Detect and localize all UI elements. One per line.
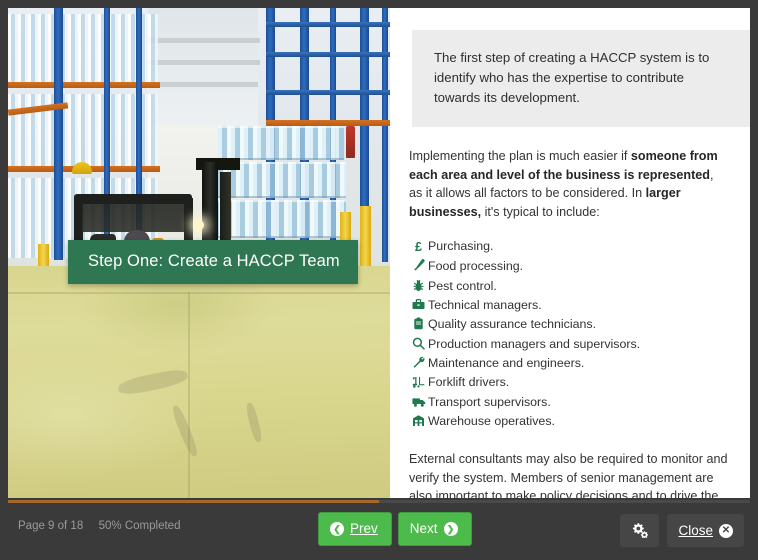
ceiling-beam <box>154 82 258 87</box>
list-item: Maintenance and engineers. <box>409 356 740 372</box>
list-item-label: Quality assurance technicians. <box>428 317 596 333</box>
ceiling-beam <box>148 60 260 65</box>
post-protector <box>360 206 371 270</box>
close-button-label: Close <box>678 523 713 538</box>
list-item: Quality assurance technicians. <box>409 317 740 333</box>
list-item-label: Warehouse operatives. <box>428 414 555 430</box>
forklift-icon <box>409 375 428 388</box>
floor-seam <box>188 292 190 498</box>
floor-seam <box>8 292 390 294</box>
pound-sign-icon: £ <box>409 239 428 255</box>
progress-fill <box>8 500 379 503</box>
next-button[interactable]: Next ❯ <box>398 512 472 546</box>
list-item: Production managers and supervisors. <box>409 337 740 353</box>
floor-scuff <box>170 404 200 458</box>
prev-button[interactable]: ❮ Prev <box>318 512 392 546</box>
thermometer-icon <box>409 259 428 272</box>
truck-icon <box>409 395 428 408</box>
rack-upright <box>382 8 388 262</box>
list-item: Warehouse operatives. <box>409 414 740 430</box>
briefcase-icon <box>409 298 428 311</box>
list-item: Technical managers. <box>409 298 740 314</box>
status-text: Page 9 of 18 50% Completed <box>18 520 180 532</box>
slide-caption-banner: Step One: Create a HACCP Team <box>68 240 358 284</box>
hard-hat <box>72 162 92 174</box>
overhead-guard-top <box>74 194 192 204</box>
player-footer: Page 9 of 18 50% Completed ❮ Prev Next ❯ <box>0 504 758 560</box>
body-text: Implementing the plan is much easier if <box>409 149 631 163</box>
rack-beam <box>266 52 390 57</box>
slide-stage: Step One: Create a HACCP Team The first … <box>8 8 750 498</box>
floor-scuff <box>117 367 189 397</box>
ceiling-beam <box>148 38 260 43</box>
roles-list: £Purchasing.Food processing.Pest control… <box>404 239 740 430</box>
callout-box: The first step of creating a HACCP syste… <box>412 30 750 127</box>
chevron-left-circle-icon: ❮ <box>330 522 344 536</box>
close-circle-icon: ✕ <box>719 524 733 538</box>
list-item-label: Food processing. <box>428 259 523 275</box>
list-item-label: Purchasing. <box>428 239 493 255</box>
bug-icon <box>409 279 428 292</box>
list-item: Pest control. <box>409 279 740 295</box>
completed-label: 50% Completed <box>99 520 181 532</box>
course-player: Step One: Create a HACCP Team The first … <box>0 0 758 560</box>
magnifier-icon <box>409 337 428 350</box>
wrench-icon <box>409 356 428 369</box>
list-item-label: Technical managers. <box>428 298 542 314</box>
overhead-guard-roof <box>82 202 184 232</box>
list-item-label: Pest control. <box>428 279 497 295</box>
list-item-label: Transport supervisors. <box>428 395 551 411</box>
warehouse-forklift-photo: Step One: Create a HACCP Team <box>8 8 390 498</box>
fire-extinguisher <box>346 126 355 158</box>
ceiling <box>148 8 258 136</box>
warehouse-floor <box>8 266 390 498</box>
right-controls: Close ✕ <box>620 514 744 547</box>
intro-paragraph: Implementing the plan is much easier if … <box>404 147 740 221</box>
clipboard-icon <box>409 317 428 330</box>
work-light <box>194 220 204 230</box>
list-item-label: Production managers and supervisors. <box>428 337 640 353</box>
prev-button-label: Prev <box>350 521 378 536</box>
settings-button[interactable] <box>620 514 659 547</box>
rack-beam <box>266 22 390 27</box>
body-text: it's typical to include: <box>481 205 600 219</box>
close-button[interactable]: Close ✕ <box>667 514 744 547</box>
list-item: £Purchasing. <box>409 239 740 255</box>
page-label: Page 9 of 18 <box>18 520 83 532</box>
rack-beam <box>266 90 390 95</box>
list-item-label: Forklift drivers. <box>428 375 509 391</box>
navigation-buttons: ❮ Prev Next ❯ <box>318 512 472 546</box>
chevron-right-circle-icon: ❯ <box>444 522 458 536</box>
list-item: Forklift drivers. <box>409 375 740 391</box>
list-item: Food processing. <box>409 259 740 275</box>
slide-text-pane: The first step of creating a HACCP syste… <box>390 8 750 498</box>
warehouse-icon <box>409 414 428 427</box>
outro-paragraph: External consultants may also be require… <box>404 450 740 498</box>
cogs-icon <box>631 523 648 538</box>
list-item: Transport supervisors. <box>409 395 740 411</box>
pallet-bottles <box>218 126 344 160</box>
progress-track <box>8 500 750 503</box>
list-item-label: Maintenance and engineers. <box>428 356 584 372</box>
next-button-label: Next <box>410 521 438 536</box>
floor-scuff <box>245 402 263 443</box>
